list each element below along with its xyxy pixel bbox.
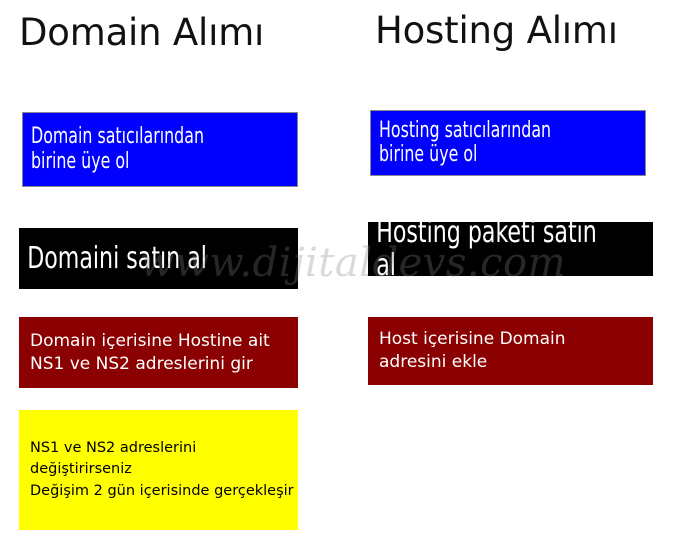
domain-step-signup-label: Domain satıcılarından birine üye ol bbox=[23, 125, 242, 173]
domain-step-purchase-box: Domaini satın al bbox=[19, 228, 298, 289]
domain-step-nameservers-box: Domain içerisine Hostine ait NS1 ve NS2 … bbox=[19, 317, 298, 388]
hosting-step-purchase-label: Hosting paketi satın al bbox=[368, 222, 602, 276]
hosting-step-add-domain-box: Host içerisine Domain adresini ekle bbox=[368, 317, 653, 385]
domain-step-signup-box: Domain satıcılarından birine üye ol bbox=[22, 112, 298, 187]
hosting-step-signup-box: Hosting satıcılarından birine üye ol bbox=[370, 110, 646, 176]
hosting-step-signup-label: Hosting satıcılarından birine üye ol bbox=[371, 119, 590, 167]
diagram-canvas: Domain Alımı Hosting Alımı Domain satıcı… bbox=[0, 0, 674, 555]
hosting-step-purchase-box: Hosting paketi satın al bbox=[368, 222, 653, 276]
column-title-domain: Domain Alımı bbox=[19, 14, 264, 51]
domain-step-propagation-note-box: NS1 ve NS2 adreslerini değiştirirseniz D… bbox=[19, 410, 298, 530]
domain-step-nameservers-label: Domain içerisine Hostine ait NS1 ve NS2 … bbox=[19, 330, 270, 376]
hosting-step-add-domain-label: Host içerisine Domain adresini ekle bbox=[368, 328, 566, 374]
domain-step-purchase-label: Domaini satın al bbox=[19, 242, 248, 275]
domain-step-propagation-note-label: NS1 ve NS2 adreslerini değiştirirseniz D… bbox=[19, 438, 298, 501]
column-title-hosting: Hosting Alımı bbox=[375, 12, 618, 49]
